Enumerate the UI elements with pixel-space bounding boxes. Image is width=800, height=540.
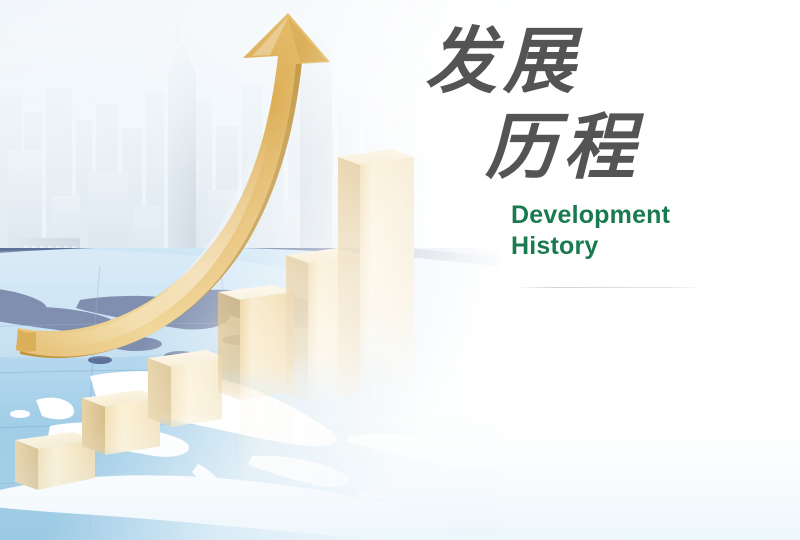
title-en-block: Development History	[425, 200, 725, 262]
title-en-line1: Development	[511, 200, 725, 231]
title-cjk-line2: 历程	[485, 104, 725, 190]
headline-block: 发展 历程 Development History	[425, 18, 725, 262]
banner-canvas: 发展 历程 Development History	[0, 0, 800, 540]
headline-divider	[515, 287, 705, 288]
title-en-line2: History	[511, 231, 725, 262]
title-cjk-line1: 发展	[425, 18, 725, 104]
